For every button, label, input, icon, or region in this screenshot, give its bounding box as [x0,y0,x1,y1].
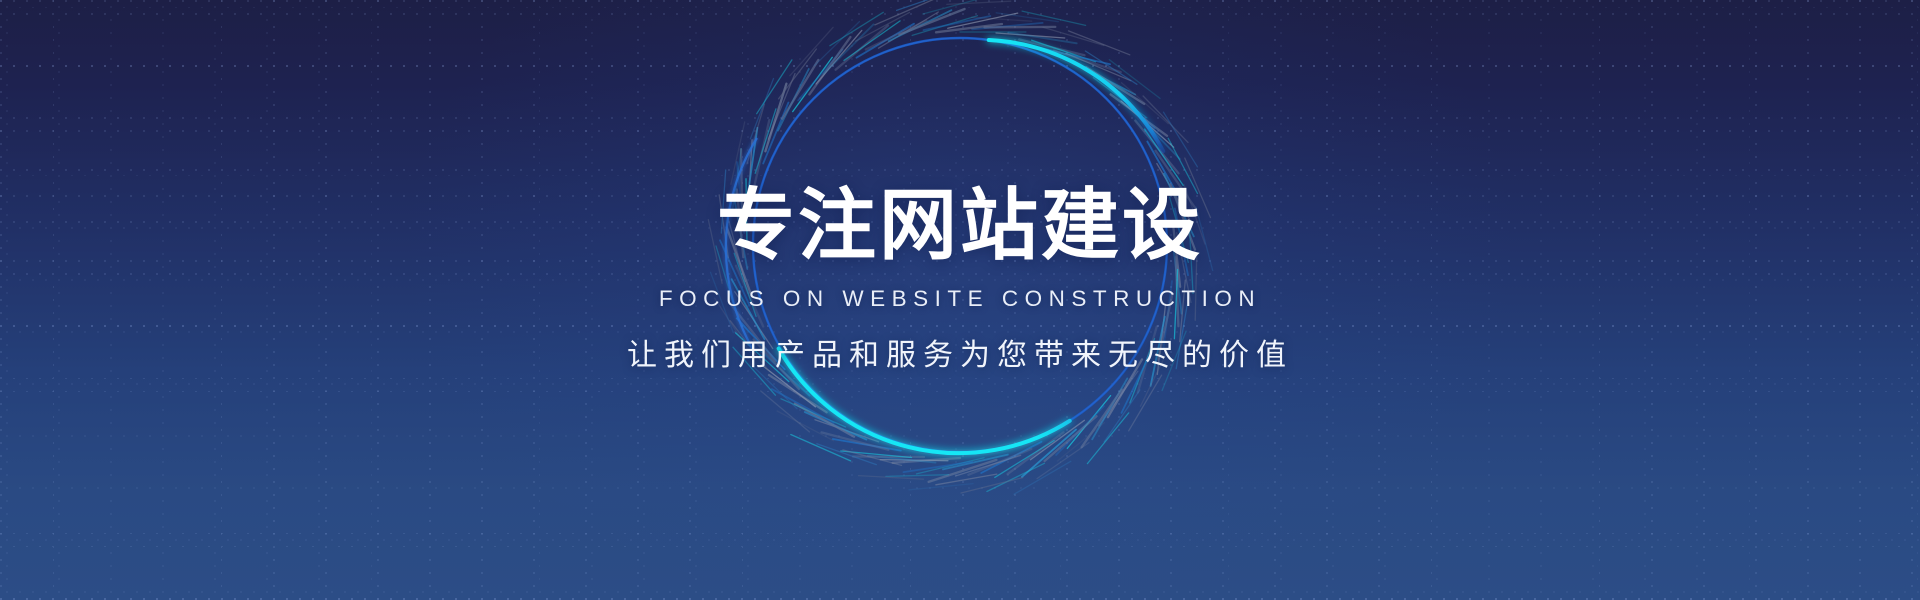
banner-subtitle-english: FOCUS ON WEBSITE CONSTRUCTION [659,288,1261,311]
hero-banner: 专注网站建设 FOCUS ON WEBSITE CONSTRUCTION 让我们… [0,0,1920,600]
banner-headline: 专注网站建设 [717,0,1203,266]
banner-content: 专注网站建设 FOCUS ON WEBSITE CONSTRUCTION 让我们… [0,0,1920,600]
banner-subtitle-chinese: 让我们用产品和服务为您带来无尽的价值 [627,339,1293,372]
